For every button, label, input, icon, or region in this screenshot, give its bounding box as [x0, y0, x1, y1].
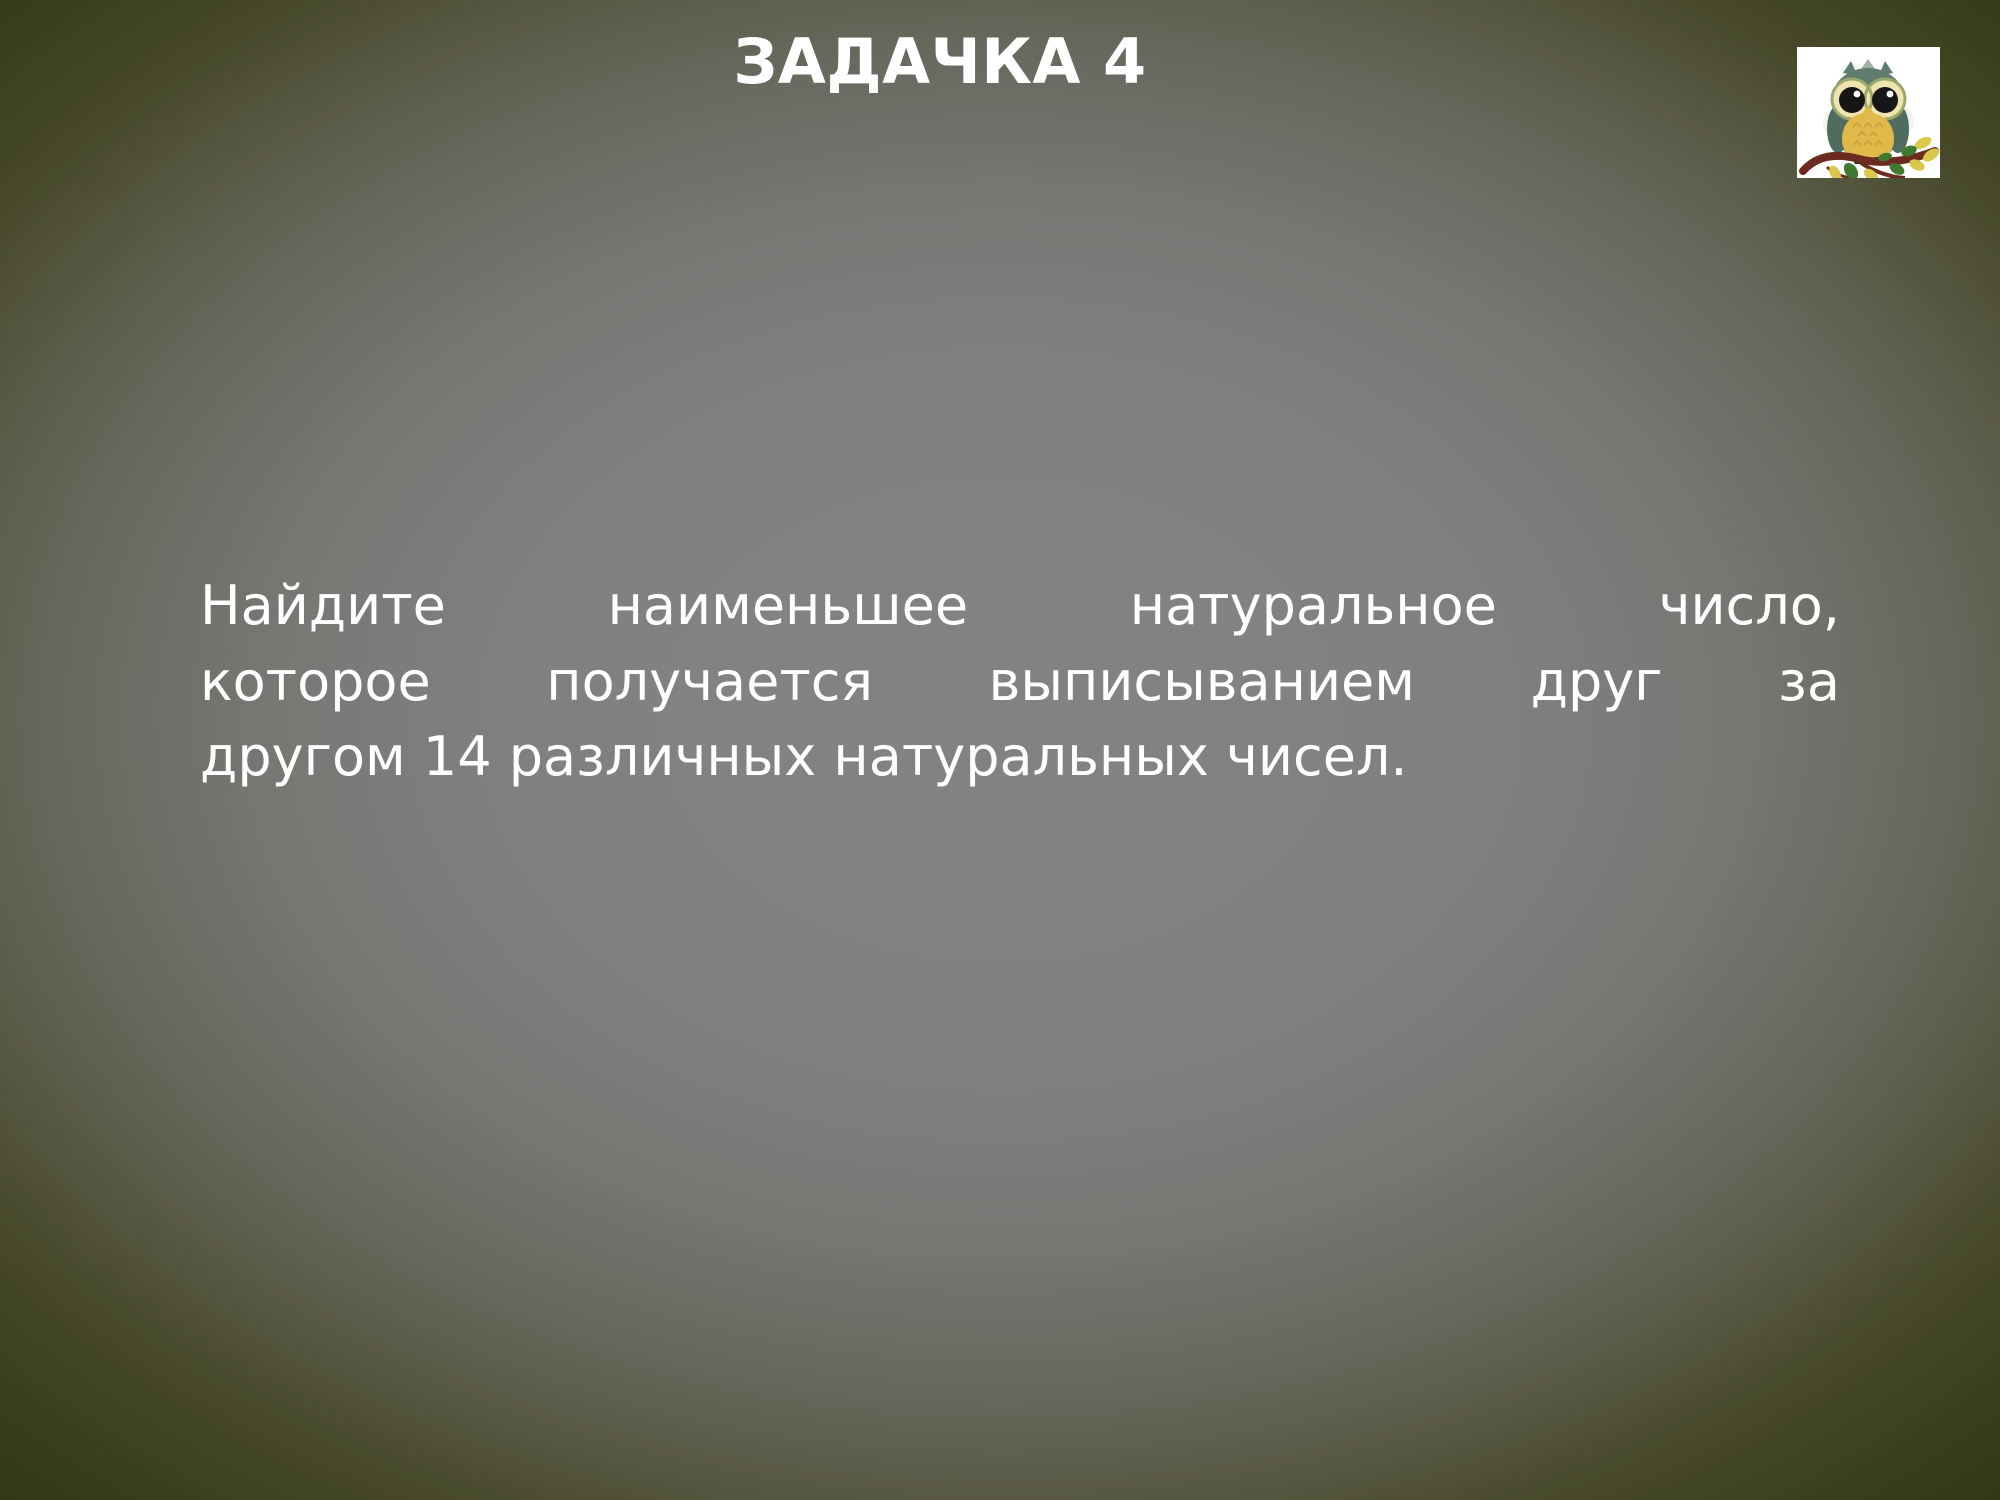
word: Найдите — [200, 568, 446, 644]
problem-line-2: которое получается выписыванием друг за — [200, 644, 1840, 720]
page-title: ЗАДАЧКА 4 — [0, 28, 1880, 96]
problem-line-3: другом 14 различных натуральных чисел. — [200, 719, 1840, 795]
presentation-slide: ЗАДАЧКА 4 — [0, 0, 2000, 1500]
word: которое — [200, 644, 431, 720]
word: число, — [1659, 568, 1840, 644]
problem-line-1: Найдите наименьшее натуральное число, — [200, 568, 1840, 644]
word: за — [1778, 644, 1840, 720]
word: получается — [546, 644, 873, 720]
owl-image — [1797, 47, 1940, 178]
owl-on-branch-icon — [1797, 47, 1940, 178]
word: натуральное — [1130, 568, 1497, 644]
word: наименьшее — [608, 568, 968, 644]
word: выписыванием — [989, 644, 1415, 720]
problem-statement: Найдите наименьшее натуральное число, ко… — [200, 568, 1840, 795]
word: друг — [1531, 644, 1663, 720]
